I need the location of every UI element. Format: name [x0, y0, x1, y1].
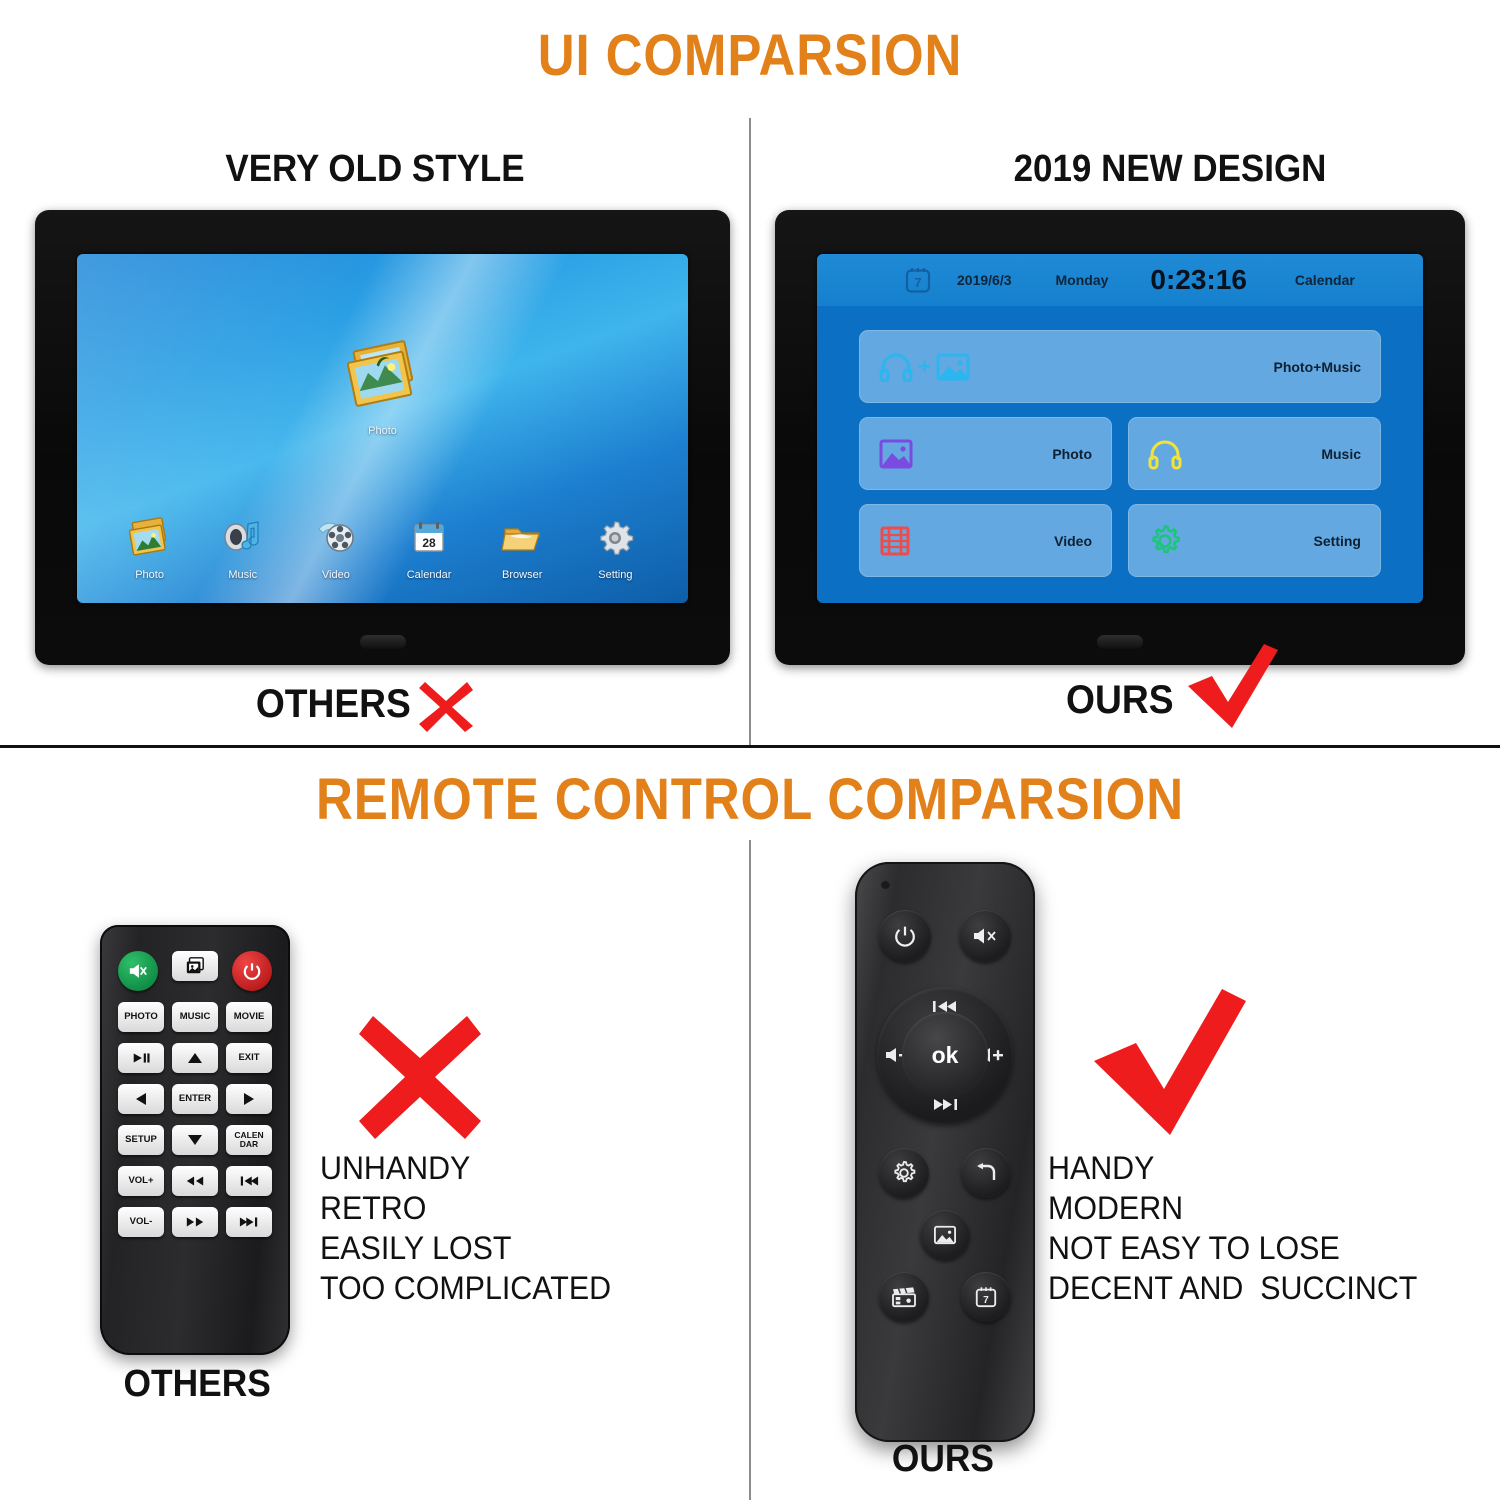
- key-music[interactable]: MUSIC: [172, 1002, 218, 1032]
- gear-icon: [891, 1160, 917, 1186]
- dock-label-music: Music: [201, 569, 285, 581]
- caption-ours-bottom: OURS: [892, 1438, 994, 1481]
- new-key-photo[interactable]: [920, 1210, 970, 1260]
- divider-vertical-bottom: [749, 840, 751, 1500]
- plus-sign: +: [918, 356, 931, 378]
- dock-item-calendar[interactable]: 28 Calendar: [387, 517, 471, 581]
- image-icon: [933, 1224, 957, 1246]
- gear-icon: [1148, 524, 1182, 558]
- svg-text:7: 7: [914, 275, 921, 290]
- calendar-day-number: 28: [422, 536, 436, 550]
- new-key-setting[interactable]: [879, 1148, 929, 1198]
- dock-label-calendar: Calendar: [387, 569, 471, 581]
- dock-item-setting[interactable]: Setting: [573, 517, 657, 581]
- verdict-others-top: OTHERS: [250, 672, 477, 736]
- remote-new[interactable]: ok: [855, 862, 1035, 1442]
- verdict-ours-top: OURS: [1062, 668, 1282, 732]
- headphones-plus-image-icon: +: [879, 352, 970, 382]
- cross-mark-icon-remote: [355, 1010, 485, 1145]
- key-up[interactable]: [172, 1043, 218, 1073]
- tile-label-video: Video: [1054, 533, 1092, 549]
- back-icon: [973, 1162, 999, 1184]
- new-ui-root: 7 2019/6/3 Monday 0:23:16 Calendar: [817, 254, 1423, 603]
- play-pause-icon: [131, 1052, 151, 1064]
- page-title-ui-comparison: UI COMPARSION: [90, 22, 1410, 89]
- left-icon: [135, 1092, 147, 1106]
- key-row-1: [118, 951, 272, 991]
- calendar-icon: 28: [406, 517, 452, 559]
- tile-row-1: + Photo+Music: [859, 330, 1381, 403]
- key-right[interactable]: [226, 1084, 272, 1114]
- key-left[interactable]: [118, 1084, 164, 1114]
- fast-forward-icon: [185, 1216, 205, 1228]
- key-setup[interactable]: SETUP: [118, 1125, 164, 1155]
- clapper-icon: [891, 1286, 917, 1308]
- key-fast-forward[interactable]: [172, 1207, 218, 1237]
- divider-horizontal: [0, 745, 1500, 748]
- bullets-others: UNHANDY RETRO EASILY LOST TOO COMPLICATE…: [320, 1148, 611, 1308]
- headphones-icon: [1148, 438, 1182, 470]
- tile-label-photo-music: Photo+Music: [1273, 359, 1361, 375]
- film-strip-icon: [879, 525, 911, 557]
- tile-label-music: Music: [1321, 446, 1361, 462]
- cross-mark-icon: [415, 674, 477, 736]
- tile-photo[interactable]: Photo: [859, 417, 1112, 490]
- key-photo[interactable]: PHOTO: [118, 1002, 164, 1032]
- heading-very-old-style: VERY OLD STYLE: [99, 148, 651, 191]
- photo-frame-icon: [343, 340, 423, 412]
- mute-icon: [972, 926, 998, 946]
- slideshow-icon: [185, 956, 205, 976]
- monitor-sensor-new: [1097, 635, 1143, 649]
- rewind-icon: [185, 1175, 205, 1187]
- tile-setting[interactable]: Setting: [1128, 504, 1381, 577]
- tile-label-setting: Setting: [1314, 533, 1361, 549]
- film-reel-icon: [313, 517, 359, 559]
- verdict-label-others: OTHERS: [256, 682, 411, 727]
- monitor-sensor-old: [360, 635, 406, 649]
- key-row-4: ENTER: [118, 1084, 272, 1114]
- key-down[interactable]: [172, 1125, 218, 1155]
- status-bar: 7 2019/6/3 Monday 0:23:16 Calendar: [817, 254, 1423, 306]
- key-rewind[interactable]: [172, 1166, 218, 1196]
- monitor-old: Photo Photo: [35, 210, 730, 665]
- key-movie[interactable]: MOVIE: [226, 1002, 272, 1032]
- power-icon: [243, 962, 261, 980]
- caption-others-bottom: OTHERS: [124, 1363, 271, 1406]
- key-row-6: VOL+: [118, 1166, 272, 1196]
- tile-label-photo: Photo: [1052, 446, 1092, 462]
- key-previous[interactable]: [226, 1166, 272, 1196]
- key-enter[interactable]: ENTER: [172, 1084, 218, 1114]
- check-mark-icon-remote: [1090, 985, 1250, 1140]
- key-row-3: EXIT: [118, 1043, 272, 1073]
- dock-item-browser[interactable]: Browser: [480, 517, 564, 581]
- dock-label-video: Video: [294, 569, 378, 581]
- tile-row-2: Photo Music: [859, 417, 1381, 490]
- next-icon: [239, 1216, 259, 1228]
- status-calendar-icon: 7: [903, 265, 933, 295]
- heading-2019-new-design: 2019 NEW DESIGN: [894, 148, 1446, 191]
- dpad-ok-button[interactable]: ok: [902, 1012, 988, 1098]
- key-slideshow[interactable]: [172, 951, 218, 981]
- tile-row-3: Video Setting: [859, 504, 1381, 577]
- key-exit[interactable]: EXIT: [226, 1043, 272, 1073]
- gear-icon: [592, 517, 638, 559]
- key-row-5: SETUP CALENDAR: [118, 1125, 272, 1155]
- key-power[interactable]: [232, 951, 272, 991]
- dock-item-video[interactable]: Video: [294, 517, 378, 581]
- previous-icon: [932, 1000, 958, 1013]
- previous-icon: [239, 1175, 259, 1187]
- key-play-pause[interactable]: [118, 1043, 164, 1073]
- right-icon: [243, 1092, 255, 1106]
- new-key-back[interactable]: [961, 1148, 1011, 1198]
- remote-old-keypad: PHOTO MUSIC MOVIE EXIT: [100, 951, 290, 1237]
- new-key-video[interactable]: [879, 1272, 929, 1322]
- down-icon: [187, 1134, 203, 1146]
- tile-music[interactable]: Music: [1128, 417, 1381, 490]
- calendar-icon: 7: [974, 1285, 998, 1309]
- mute-icon: [128, 962, 148, 980]
- dock-item-photo[interactable]: Photo: [108, 517, 192, 581]
- dpad[interactable]: ok: [877, 987, 1013, 1123]
- key-row-2: PHOTO MUSIC MOVIE: [118, 1002, 272, 1032]
- folder-icon: [499, 517, 545, 559]
- divider-vertical-top: [749, 118, 751, 746]
- dock-label-photo: Photo: [108, 569, 192, 581]
- key-next[interactable]: [226, 1207, 272, 1237]
- screen-new-ui: 7 2019/6/3 Monday 0:23:16 Calendar: [817, 254, 1423, 603]
- check-mark-icon: [1182, 642, 1282, 732]
- new-key-power[interactable]: [879, 910, 931, 962]
- key-calendar[interactable]: CALENDAR: [226, 1125, 272, 1155]
- tile-photo-music[interactable]: + Photo+Music: [859, 330, 1381, 403]
- status-date: 2019/6/3: [957, 272, 1012, 288]
- infographic-page: UI COMPARSION VERY OLD STYLE 2019 NEW DE…: [0, 0, 1500, 1500]
- svg-text:7: 7: [983, 1295, 989, 1306]
- key-volume-down[interactable]: VOL-: [118, 1207, 164, 1237]
- remote-old[interactable]: PHOTO MUSIC MOVIE EXIT: [100, 925, 290, 1355]
- key-mute[interactable]: [118, 951, 158, 991]
- desktop-hero-label: Photo: [343, 425, 423, 437]
- bullets-ours: HANDY MODERN NOT EASY TO LOSE DECENT AND…: [1048, 1148, 1417, 1308]
- photo-icon: [127, 517, 173, 559]
- screen-old-ui: Photo Photo: [77, 254, 688, 603]
- image-icon: [879, 438, 913, 470]
- tile-menu: + Photo+Music: [817, 306, 1423, 603]
- status-weekday: Monday: [1056, 272, 1109, 288]
- key-volume-up[interactable]: VOL+: [118, 1166, 164, 1196]
- new-key-calendar[interactable]: 7: [961, 1272, 1011, 1322]
- page-title-remote-comparison: REMOTE CONTROL COMPARSION: [90, 766, 1410, 833]
- dock-label-browser: Browser: [480, 569, 564, 581]
- new-key-mute[interactable]: [959, 910, 1011, 962]
- desktop-hero-photo[interactable]: Photo: [343, 340, 423, 437]
- up-icon: [187, 1052, 203, 1064]
- ir-led: [881, 880, 890, 889]
- tile-video[interactable]: Video: [859, 504, 1112, 577]
- power-icon: [894, 925, 916, 947]
- monitor-new: 7 2019/6/3 Monday 0:23:16 Calendar: [775, 210, 1465, 665]
- music-icon: [220, 517, 266, 559]
- verdict-label-ours: OURS: [1066, 678, 1173, 723]
- key-row-7: VOL-: [118, 1207, 272, 1237]
- dock-item-music[interactable]: Music: [201, 517, 285, 581]
- next-icon: [932, 1098, 958, 1111]
- desktop-dock: Photo Music: [77, 517, 688, 581]
- status-calendar-label: Calendar: [1295, 272, 1355, 288]
- dock-label-setting: Setting: [573, 569, 657, 581]
- status-time: 0:23:16: [1150, 264, 1247, 296]
